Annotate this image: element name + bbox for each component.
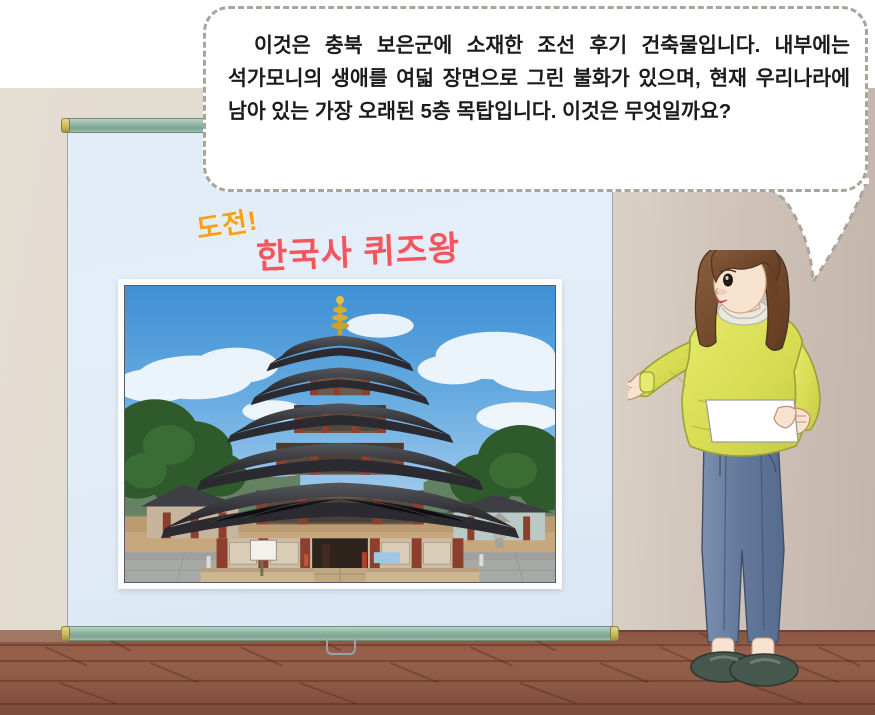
pagoda-photo-illustration	[125, 286, 555, 582]
presenter-woman[interactable]	[628, 250, 858, 700]
woman-pants	[702, 438, 784, 642]
roller-cap-top-left	[61, 118, 70, 133]
speech-bubble: 이것은 충북 보은군에 소재한 조선 후기 건축물입니다. 내부에는 석가모니의…	[203, 6, 868, 192]
title-challenge-text: 도전!	[193, 198, 260, 246]
presenter-woman-illustration	[628, 250, 858, 700]
floor-edge-trim	[0, 630, 68, 642]
speech-bubble-tail	[755, 178, 875, 288]
screen-pull-handle[interactable]	[326, 639, 356, 655]
pagoda-photo	[124, 285, 556, 583]
illustration-scene: 도전! 한국사 퀴즈왕	[0, 0, 875, 715]
title-main-text: 한국사 퀴즈왕	[255, 221, 461, 279]
pagoda-photo-frame[interactable]	[118, 279, 562, 589]
woman-shoes	[691, 652, 798, 686]
speech-bubble-text: 이것은 충북 보은군에 소재한 조선 후기 건축물입니다. 내부에는 석가모니의…	[228, 29, 850, 128]
quiz-title-block: 도전! 한국사 퀴즈왕	[196, 203, 526, 273]
roller-cap-bottom-left	[61, 626, 70, 641]
roller-cap-bottom-right	[610, 626, 619, 641]
